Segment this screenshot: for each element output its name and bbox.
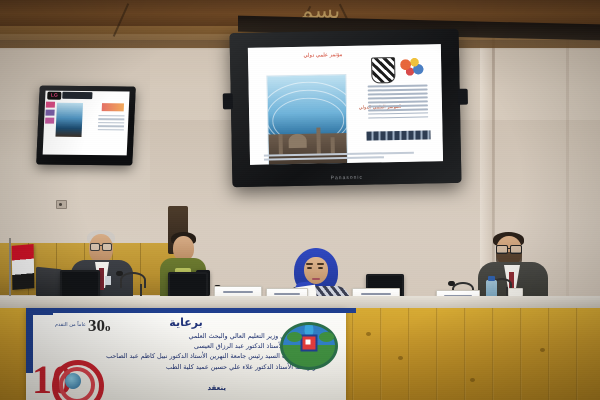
event-banner: 30o عاماً من التقدم برعاية معالي وزير ال… [26,308,346,400]
sidebar-strip [44,102,55,153]
text-line [368,92,428,95]
wall-socket [56,200,67,209]
glasses-icon [90,243,112,249]
presentation-slide: مؤتمر علمي دولي المؤتمر العلمي الدولي [248,44,443,165]
iraq-flag [12,244,35,290]
tv-screen: مؤتمر علمي دولي المؤتمر العلمي الدولي [248,44,443,165]
laptop[interactable] [36,267,62,300]
text-line [98,129,124,131]
strip-block [45,118,54,124]
id-badge [105,276,111,285]
tv-mount-right [458,89,468,105]
slide-cover-thumbnail [55,103,83,137]
banner-top-rule [26,308,356,313]
banner-line-5: ينعقد [207,384,226,392]
tv-screen: LG [43,91,130,156]
tower-shape [331,137,335,153]
logo-globe [65,373,81,389]
slide-title: مؤتمر علمي دولي [264,51,382,60]
text-line [368,108,428,111]
text-line [368,116,428,119]
eyebrow [317,263,324,265]
tower-shape [278,134,282,154]
filmstrip-graphic [366,130,430,140]
tower-shape [316,127,320,153]
side-display-tv[interactable]: LG [36,86,136,166]
text-line [368,96,428,99]
conference-hall-photo: بسم مؤتمر علمي دولي المؤت [0,0,600,400]
slide-text-thumbnail [98,115,125,132]
text-line [98,125,124,127]
text-line [368,112,428,115]
banner-line-1: معالي وزير التعليم العالي والبحث العلمي [189,332,297,340]
emblem-leaf [319,332,334,342]
banner-line-3: وبإشراف السيد رئيس جامعة النهرين الأستاذ… [106,352,306,360]
university-emblem-icon [280,322,338,370]
glasses-icon [496,245,522,252]
slide-cover-image [266,74,348,165]
dome-shape [288,134,306,148]
desk-monitor[interactable] [168,272,208,298]
slide-text-block [368,84,429,121]
text-line [368,100,428,103]
text-line [368,104,428,107]
flags-graphic [397,55,425,78]
strip-block [46,102,55,108]
anniversary-10-logo: 10 [30,358,122,400]
strip-block [45,110,54,116]
tv-mount-left [223,93,233,109]
eyebrow [306,263,313,265]
text-line [368,88,428,91]
slide-title-thumbnail [102,103,124,111]
main-display-tv[interactable]: مؤتمر علمي دولي المؤتمر العلمي الدولي [230,29,462,187]
text-line [98,115,124,117]
lg-logo: LG [47,92,61,100]
heraldic-crest-icon [371,57,395,83]
text-line [98,122,124,124]
text-line [98,119,124,121]
banner-line-2: الأستاذ الدكتور عبد الرزاق العيسى [194,342,284,350]
text-line [368,84,428,87]
emblem-core [301,334,318,351]
emblem-leaf [287,332,302,342]
tv-brand-label: Panasonic [331,175,363,182]
desk-monitor[interactable] [60,270,100,298]
browser-toolbar [62,92,92,99]
